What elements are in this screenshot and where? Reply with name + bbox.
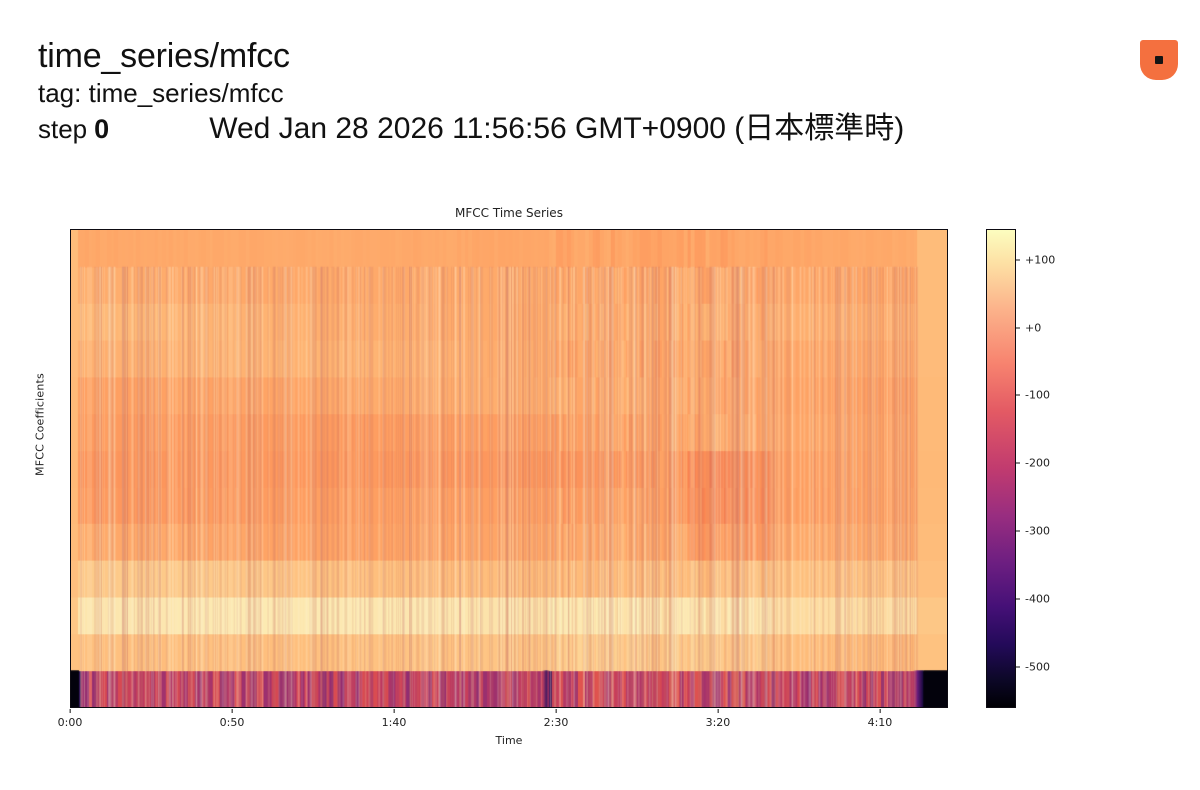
colorbar-tick-label: -200 <box>1025 457 1050 470</box>
colorbar[interactable]: +100+0-100-200-300-400-500 <box>986 229 1016 708</box>
colorbar-tick-mark <box>1016 395 1020 396</box>
x-tick-mark <box>879 709 880 713</box>
x-tick-mark <box>69 709 70 713</box>
x-tick-label: 1:40 <box>382 709 407 729</box>
x-tick-label: 0:50 <box>220 709 245 729</box>
colorbar-tick-mark <box>1016 259 1020 260</box>
x-tick-label: 3:20 <box>706 709 731 729</box>
heatmap-plot[interactable] <box>70 229 948 708</box>
heatmap-canvas <box>71 230 947 707</box>
colorbar-tick-label: +100 <box>1025 253 1055 266</box>
chart-title: MFCC Time Series <box>70 206 948 220</box>
mfcc-figure: MFCC Time Series MFCC Coefficients 0:000… <box>0 198 1200 768</box>
step-row: step 0 Wed Jan 28 2026 11:56:56 GMT+0900… <box>38 110 1168 148</box>
colorbar-tick-label: -300 <box>1025 525 1050 538</box>
run-color-swatch-icon[interactable] <box>1140 40 1178 80</box>
x-tick-mark <box>393 709 394 713</box>
colorbar-tick-mark <box>1016 667 1020 668</box>
step-value: 0 <box>94 110 109 148</box>
colorbar-tick-mark <box>1016 599 1020 600</box>
colorbar-tick: +0 <box>1016 321 1041 334</box>
colorbar-tick: -400 <box>1016 593 1050 606</box>
y-axis-label: MFCC Coefficients <box>34 355 47 495</box>
header: time_series/mfcc tag: time_series/mfcc s… <box>38 36 1168 148</box>
x-tick-mark <box>717 709 718 713</box>
colorbar-tick: -300 <box>1016 525 1050 538</box>
x-tick-mark <box>231 709 232 713</box>
colorbar-tick: +100 <box>1016 253 1055 266</box>
page-title: time_series/mfcc <box>38 36 1168 76</box>
tag-label: tag: time_series/mfcc <box>38 76 1168 110</box>
colorbar-tick: -500 <box>1016 661 1050 674</box>
colorbar-tick-mark <box>1016 327 1020 328</box>
colorbar-tick: -100 <box>1016 389 1050 402</box>
colorbar-tick-mark <box>1016 531 1020 532</box>
colorbar-tick-label: -500 <box>1025 661 1050 674</box>
x-tick-label: 2:30 <box>544 709 569 729</box>
x-tick-label: 4:10 <box>868 709 893 729</box>
x-axis-label: Time <box>70 734 948 747</box>
swatch-dot-icon <box>1155 56 1163 64</box>
colorbar-tick-label: +0 <box>1025 321 1041 334</box>
colorbar-tick-mark <box>1016 463 1020 464</box>
timestamp: Wed Jan 28 2026 11:56:56 GMT+0900 (日本標準時… <box>209 110 904 148</box>
colorbar-tick-label: -400 <box>1025 593 1050 606</box>
colorbar-tick: -200 <box>1016 457 1050 470</box>
x-tick-mark <box>555 709 556 713</box>
step-label: step <box>38 110 87 148</box>
colorbar-gradient <box>986 229 1016 708</box>
colorbar-tick-label: -100 <box>1025 389 1050 402</box>
x-tick-label: 0:00 <box>58 709 83 729</box>
